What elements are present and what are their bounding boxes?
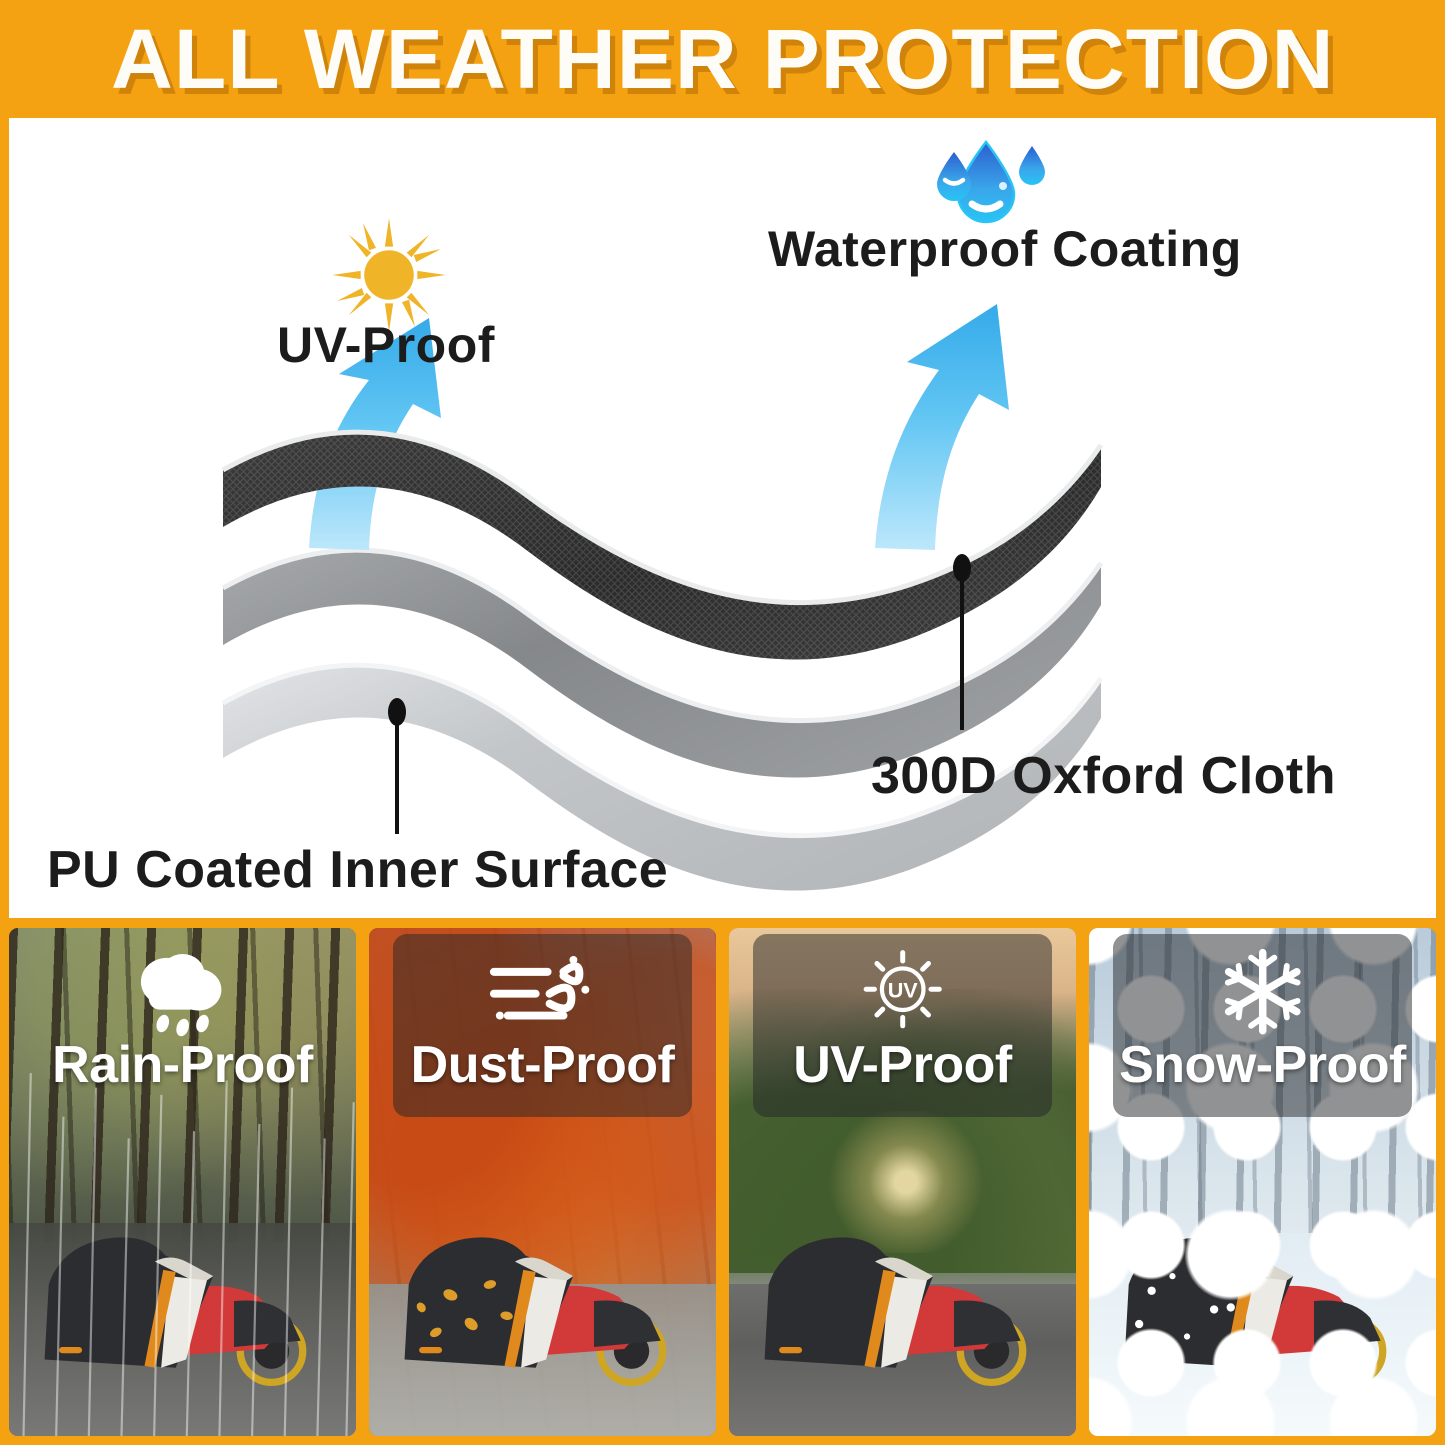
- product-infographic: ALL WEATHER PROTECTION: [0, 0, 1445, 1445]
- covered-motorcycle: [390, 1167, 702, 1431]
- pin-dot-pu: [388, 698, 406, 726]
- feature-panel-rain-proof[interactable]: Rain-Proof: [9, 928, 356, 1436]
- page-title: ALL WEATHER PROTECTION: [111, 17, 1335, 101]
- waterproof-arrow-icon: [875, 304, 1009, 550]
- feature-badge: Dust-Proof: [393, 934, 691, 1117]
- header-banner: ALL WEATHER PROTECTION: [0, 0, 1445, 118]
- feature-panel-uv-proof[interactable]: UV UV-Proof: [729, 928, 1076, 1436]
- snowflake-icon: [1217, 946, 1308, 1037]
- uv-sun-icon: UV: [857, 946, 948, 1037]
- feature-label: Snow-Proof: [1119, 1039, 1406, 1091]
- feature-label: Rain-Proof: [52, 1039, 313, 1091]
- feature-badge: UV UV-Proof: [753, 934, 1051, 1117]
- feature-label: UV-Proof: [793, 1039, 1011, 1091]
- pin-dot-oxford: [953, 554, 971, 582]
- rain-cloud-icon: [123, 946, 242, 1037]
- feature-panels: Rain-Proof: [9, 928, 1436, 1436]
- callout-label-pu-inner: PU Coated Inner Surface: [47, 840, 668, 900]
- wind-dust-icon: [478, 946, 607, 1037]
- feature-label: Dust-Proof: [411, 1039, 675, 1091]
- covered-motorcycle: [750, 1167, 1062, 1431]
- fabric-layers-diagram: UV-Proof Waterproof Coating 300D Oxford …: [9, 118, 1436, 918]
- feature-panel-snow-proof[interactable]: Snow-Proof: [1089, 928, 1436, 1436]
- feature-badge: Snow-Proof: [1113, 934, 1411, 1117]
- callout-label-uv-proof: UV-Proof: [277, 316, 495, 374]
- callout-label-waterproof-coating: Waterproof Coating: [768, 220, 1242, 278]
- svg-text:UV: UV: [887, 978, 918, 1003]
- water-drops-icon: [924, 136, 1054, 228]
- feature-panel-dust-proof[interactable]: Dust-Proof: [369, 928, 716, 1436]
- callout-label-oxford-cloth: 300D Oxford Cloth: [871, 746, 1336, 806]
- feature-badge: Rain-Proof: [33, 934, 331, 1117]
